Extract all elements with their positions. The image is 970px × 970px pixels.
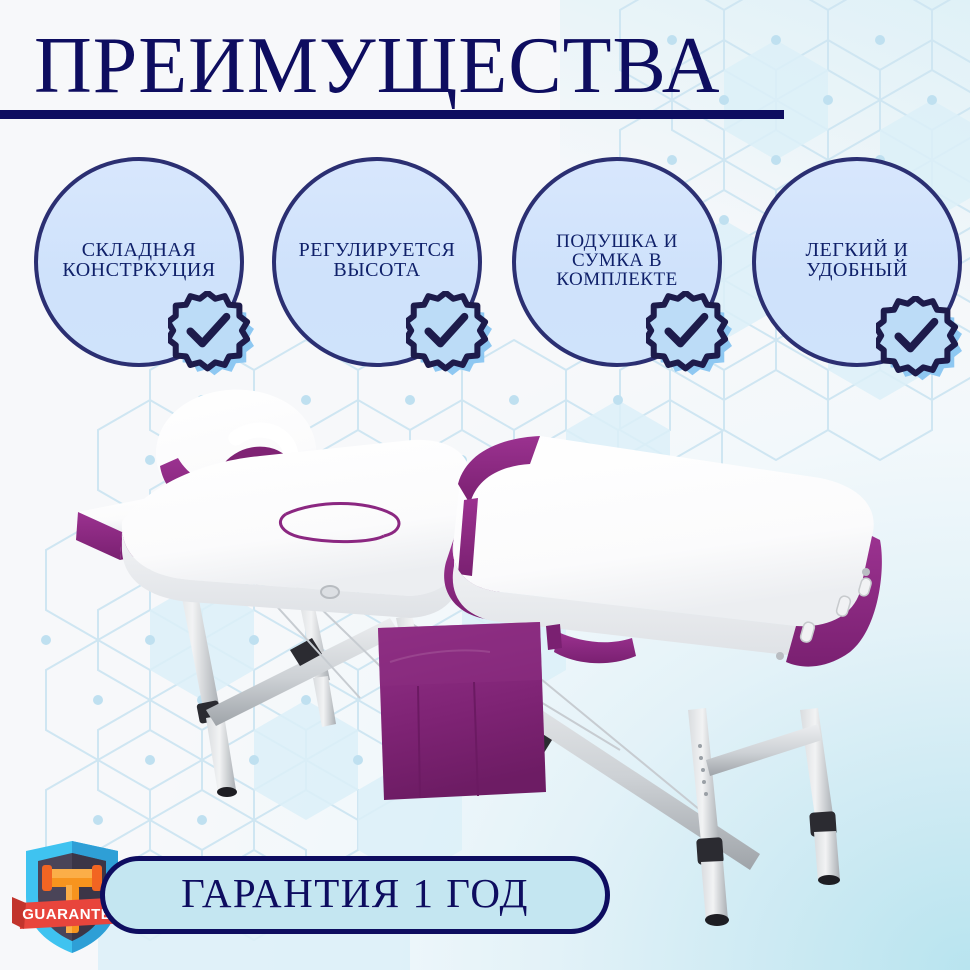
check-badge-icon — [876, 296, 962, 382]
page-title: ПРЕИМУЩЕСТВА — [34, 22, 794, 110]
infographic-canvas: ПРЕИМУЩЕСТВА СКЛАДНАЯ КОНСТРКУЦИЯ РЕГУЛИ… — [0, 0, 970, 970]
feature-label: ЛЕГКИЙ И УДОБНЫЙ — [756, 240, 958, 280]
feature-label: СКЛАДНАЯ КОНСТРКУЦИЯ — [38, 240, 240, 280]
title-underline-rule — [0, 110, 784, 119]
accessory-pouch — [378, 622, 546, 800]
check-badge-icon — [646, 291, 732, 377]
guarantee-label: ГАРАНТИЯ 1 ГОД — [181, 873, 529, 914]
check-badge-icon — [406, 291, 492, 377]
guarantee-banner[interactable]: ГАРАНТИЯ 1 ГОД — [100, 856, 610, 934]
feature-label: РЕГУЛИРУЕТСЯ ВЫСОТА — [276, 240, 478, 280]
check-badge-icon — [168, 291, 254, 377]
feature-label: ПОДУШКА И СУМКА В КОМПЛЕКТЕ — [516, 232, 718, 289]
